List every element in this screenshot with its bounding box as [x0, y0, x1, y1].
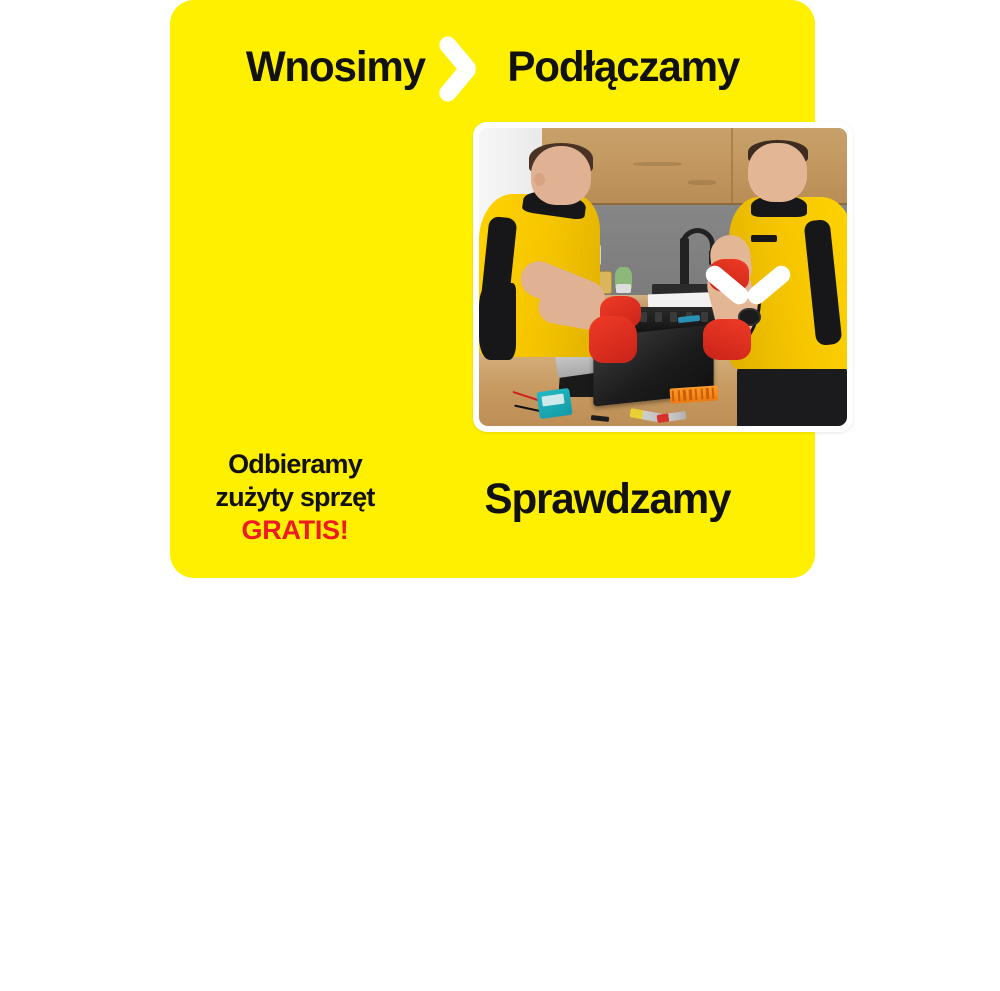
chevron-left-icon	[418, 895, 468, 991]
step-1-label: Wnosimy	[246, 46, 425, 89]
bottom-row: Odbieramy zużyty sprzęt GRATIS! Sprawdza…	[170, 440, 815, 570]
chevron-down-icon	[710, 262, 786, 310]
installation-photo	[479, 128, 847, 426]
technician-right	[748, 143, 807, 203]
banner-canvas: Wnosimy Podłączamy	[0, 0, 1000, 581]
step-2-label: Podłączamy	[507, 46, 739, 89]
headline-row: Wnosimy Podłączamy	[170, 32, 815, 102]
step-3-label: Sprawdzamy	[485, 478, 731, 521]
pickup-note: Odbieramy zużyty sprzęt GRATIS!	[184, 448, 406, 547]
product-photo-frame	[473, 122, 853, 432]
chevron-right-icon	[443, 31, 489, 103]
red-glove-right	[703, 319, 751, 361]
pickup-highlight: GRATIS!	[184, 514, 406, 547]
pickup-line-1: Odbieramy	[184, 448, 406, 481]
promo-card: Wnosimy Podłączamy	[170, 0, 815, 578]
red-glove-left	[589, 316, 637, 364]
pickup-line-2: zużyty sprzęt	[184, 481, 406, 514]
